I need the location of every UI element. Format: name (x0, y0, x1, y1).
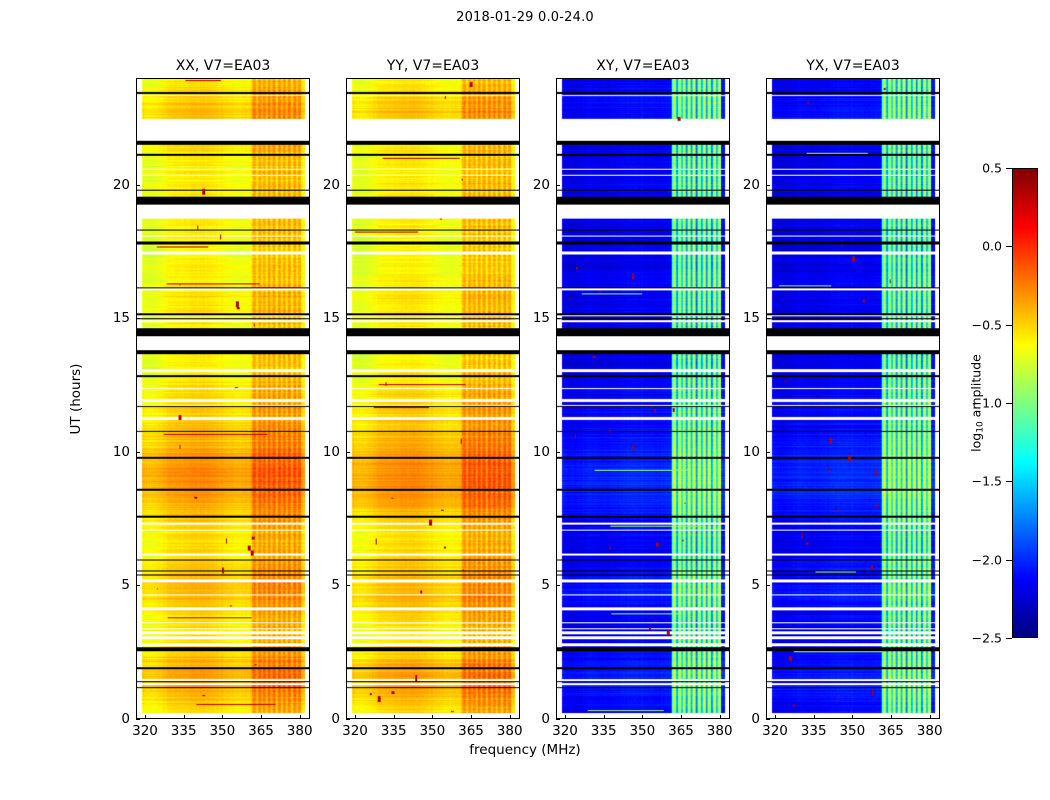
x-tick-label: 335 (171, 723, 197, 739)
y-tick (766, 719, 770, 720)
y-tick-label: 20 (522, 177, 550, 193)
y-tick (556, 318, 560, 319)
figure-suptitle: 2018-01-29 0.0-24.0 (0, 10, 1050, 25)
x-tick (300, 715, 301, 719)
x-tick (775, 715, 776, 719)
panel-yy[interactable] (346, 78, 520, 719)
y-tick (766, 318, 770, 319)
panel-title-yx: YX, V7=EA03 (766, 58, 940, 76)
colorbar-tick (1006, 481, 1012, 482)
x-tick (930, 715, 931, 719)
colorbar-label-subscript: 10 (975, 421, 985, 432)
y-tick (766, 585, 770, 586)
y-tick-label: 15 (522, 310, 550, 326)
y-tick-label: 5 (102, 577, 130, 593)
panel-title-xy: XY, V7=EA03 (556, 58, 730, 76)
y-tick-label: 15 (312, 310, 340, 326)
y-tick (346, 452, 350, 453)
y-tick-label: 10 (102, 444, 130, 460)
spectrum-image-yy (347, 79, 519, 718)
y-tick-label: 0 (102, 711, 130, 727)
y-tick (556, 719, 560, 720)
y-axis-label: UT (hours) (68, 364, 84, 435)
y-tick (556, 452, 560, 453)
x-tick (814, 715, 815, 719)
y-tick-label: 20 (732, 177, 760, 193)
x-tick-label: 380 (287, 723, 313, 739)
colorbar-tick-label: 0.0 (982, 239, 1002, 254)
y-tick-label: 15 (732, 310, 760, 326)
x-tick (432, 715, 433, 719)
spectrum-image-yx (767, 79, 939, 718)
y-tick (136, 719, 140, 720)
x-tick (145, 715, 146, 719)
x-tick (355, 715, 356, 719)
colorbar-label-rest: amplitude (969, 354, 984, 421)
y-tick (346, 185, 350, 186)
x-tick (891, 715, 892, 719)
colorbar-tick (1006, 168, 1012, 169)
y-tick-label: 10 (312, 444, 340, 460)
colorbar-tick (1006, 560, 1012, 561)
y-tick-label: 0 (312, 711, 340, 727)
y-tick (346, 719, 350, 720)
x-tick-label: 320 (762, 723, 788, 739)
colorbar-tick (1006, 246, 1012, 247)
x-tick (394, 715, 395, 719)
x-tick (852, 715, 853, 719)
x-tick-label: 320 (552, 723, 578, 739)
y-tick (136, 452, 140, 453)
x-tick-label: 365 (458, 723, 484, 739)
x-tick (510, 715, 511, 719)
y-tick-label: 10 (732, 444, 760, 460)
colorbar-tick-label: −2.5 (972, 631, 1002, 646)
y-tick (556, 585, 560, 586)
x-tick-label: 380 (707, 723, 733, 739)
x-tick-label: 335 (591, 723, 617, 739)
y-tick (556, 185, 560, 186)
y-tick-label: 20 (102, 177, 130, 193)
x-tick (261, 715, 262, 719)
y-tick-label: 20 (312, 177, 340, 193)
x-tick (471, 715, 472, 719)
y-tick (766, 452, 770, 453)
y-tick-label: 10 (522, 444, 550, 460)
x-tick-label: 335 (801, 723, 827, 739)
x-tick-label: 320 (132, 723, 158, 739)
y-tick (136, 318, 140, 319)
y-tick-label: 0 (522, 711, 550, 727)
x-tick-label: 365 (248, 723, 274, 739)
spectrum-image-xy (557, 79, 729, 718)
x-tick-label: 335 (381, 723, 407, 739)
x-tick (184, 715, 185, 719)
figure-canvas: 2018-01-29 0.0-24.0 XX, V7=EA03 YY, V7=E… (0, 0, 1050, 800)
y-tick (136, 185, 140, 186)
x-tick-label: 350 (209, 723, 235, 739)
y-tick-label: 5 (312, 577, 340, 593)
colorbar-tick-label: 0.5 (982, 161, 1002, 176)
colorbar-label: log10 amplitude (969, 354, 986, 452)
x-tick (222, 715, 223, 719)
x-tick-label: 380 (917, 723, 943, 739)
panel-xy[interactable] (556, 78, 730, 719)
x-axis-label: frequency (MHz) (0, 742, 1050, 758)
colorbar[interactable] (1012, 168, 1038, 638)
x-tick (681, 715, 682, 719)
colorbar-tick (1006, 325, 1012, 326)
y-tick (346, 318, 350, 319)
panel-title-yy: YY, V7=EA03 (346, 58, 520, 76)
colorbar-tick (1006, 638, 1012, 639)
y-tick-label: 5 (522, 577, 550, 593)
x-tick (565, 715, 566, 719)
y-tick (766, 185, 770, 186)
x-tick-label: 365 (878, 723, 904, 739)
x-tick-label: 320 (342, 723, 368, 739)
colorbar-gradient (1013, 169, 1037, 637)
x-tick (720, 715, 721, 719)
colorbar-tick-label: −2.0 (972, 552, 1002, 567)
colorbar-label-base: log (969, 433, 984, 452)
y-tick-label: 15 (102, 310, 130, 326)
colorbar-tick-label: −1.5 (972, 474, 1002, 489)
x-tick (604, 715, 605, 719)
panel-xx[interactable] (136, 78, 310, 719)
x-tick-label: 350 (839, 723, 865, 739)
x-tick (642, 715, 643, 719)
y-tick (136, 585, 140, 586)
y-tick-label: 5 (732, 577, 760, 593)
x-tick-label: 350 (419, 723, 445, 739)
colorbar-tick (1006, 403, 1012, 404)
spectrum-image-xx (137, 79, 309, 718)
panel-yx[interactable] (766, 78, 940, 719)
y-tick (346, 585, 350, 586)
x-tick-label: 350 (629, 723, 655, 739)
x-tick-label: 380 (497, 723, 523, 739)
x-tick-label: 365 (668, 723, 694, 739)
colorbar-tick-label: −0.5 (972, 317, 1002, 332)
y-tick-label: 0 (732, 711, 760, 727)
panel-title-xx: XX, V7=EA03 (136, 58, 310, 76)
